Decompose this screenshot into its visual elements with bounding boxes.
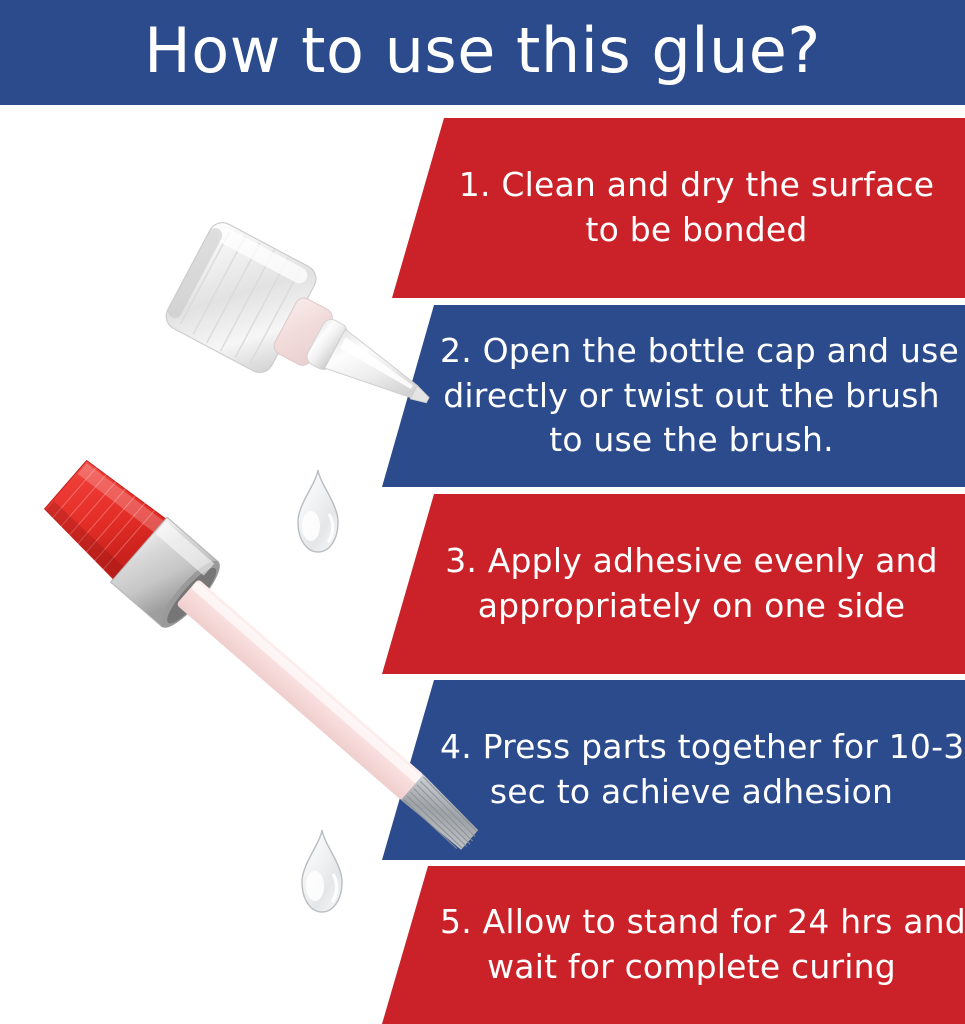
brush-red-cap — [39, 454, 167, 580]
step-2-line-1: 2. Open the bottle cap and use — [440, 329, 943, 374]
step-band-1: 1. Clean and dry the surface to be bonde… — [392, 118, 965, 298]
step-band-4: 4. Press parts together for 10-30 sec to… — [382, 680, 965, 860]
step-band-5-text: 5. Allow to stand for 24 hrs and wait fo… — [382, 900, 965, 990]
step-band-3-text: 3. Apply adhesive evenly and appropriate… — [382, 539, 965, 629]
step-2-line-2: directly or twist out the brush — [440, 374, 943, 419]
step-3-line-2: appropriately on one side — [440, 584, 943, 629]
step-5-line-1: 5. Allow to stand for 24 hrs and — [440, 900, 943, 945]
step-band-2: 2. Open the bottle cap and use directly … — [382, 305, 965, 487]
step-band-4-text: 4. Press parts together for 10-30 sec to… — [382, 725, 965, 815]
step-3-line-1: 3. Apply adhesive evenly and — [440, 539, 943, 584]
bottle-collar — [271, 295, 353, 378]
glue-droplet-nozzle — [298, 470, 338, 552]
bottle-ribbed-cap — [161, 218, 321, 378]
step-band-2-text: 2. Open the bottle cap and use directly … — [382, 329, 965, 464]
step-band-1-text: 1. Clean and dry the surface to be bonde… — [392, 163, 965, 253]
infographic-page: How to use this glue? 1. Clean and dry t… — [0, 0, 965, 1024]
step-2-line-3: to use the brush. — [440, 418, 943, 463]
glue-droplet-brush — [302, 830, 342, 912]
step-1-line-2: to be bonded — [450, 208, 943, 253]
step-band-5: 5. Allow to stand for 24 hrs and wait fo… — [382, 866, 965, 1024]
brush-grey-ferrule — [111, 517, 228, 634]
step-5-line-2: wait for complete curing — [440, 945, 943, 990]
header-banner: How to use this glue? — [0, 0, 965, 105]
page-title: How to use this glue? — [144, 20, 821, 82]
step-4-line-1: 4. Press parts together for 10-30 — [440, 725, 943, 770]
step-band-3: 3. Apply adhesive evenly and appropriate… — [382, 494, 965, 674]
step-4-line-2: sec to achieve adhesion — [440, 770, 943, 815]
step-1-line-1: 1. Clean and dry the surface — [450, 163, 943, 208]
